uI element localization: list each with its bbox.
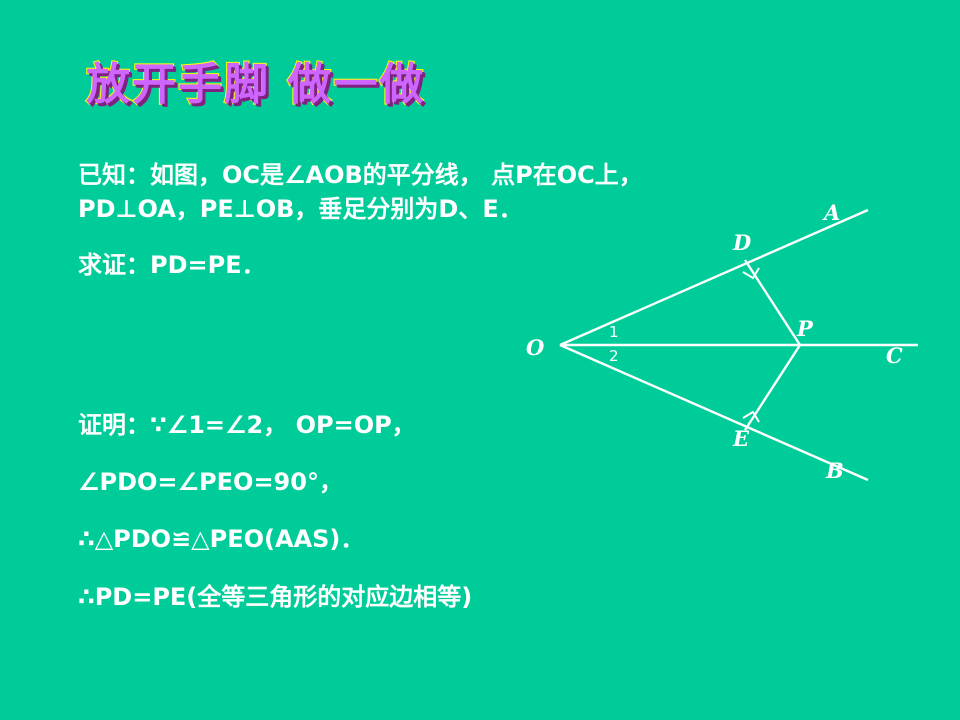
geometry-figure: A D P C O E B 1 2 [500,185,940,495]
label-point-o: O [526,337,544,358]
label-point-a: A [824,202,840,223]
label-angle-2: 2 [609,349,619,364]
proof-text-line-1: 证明：∵∠1=∠2， OP=OP， [78,408,416,442]
label-point-p: P [797,318,813,339]
slide-canvas: 放开手脚 做一做 已知：如图，OC是∠AOB的平分线， 点P在OC上， PD⊥O… [0,0,960,720]
given-text-line-2: PD⊥OA，PE⊥OB，垂足分别为D、E． [78,192,523,226]
slide-title-block: 放开手脚 做一做 [86,56,506,118]
segment-pd [745,260,800,345]
label-angle-1: 1 [609,325,619,340]
proof-text-line-3: ∴△PDO≌△PEO(AAS)． [78,522,364,556]
label-point-c: C [886,345,903,366]
label-point-b: B [826,460,844,481]
goal-text: 求证：PD=PE． [78,248,266,282]
segment-pe [745,345,800,430]
geometry-diagram-svg [500,185,940,495]
label-point-d: D [733,232,751,253]
proof-text-line-4: ∴PD=PE(全等三角形的对应边相等) [78,580,472,614]
proof-text-line-2: ∠PDO=∠PEO=90°， [78,465,343,499]
page-title: 放开手脚 做一做 [86,56,506,114]
ray-ob [560,345,868,480]
ray-oa [560,210,868,345]
label-point-e: E [733,428,749,449]
